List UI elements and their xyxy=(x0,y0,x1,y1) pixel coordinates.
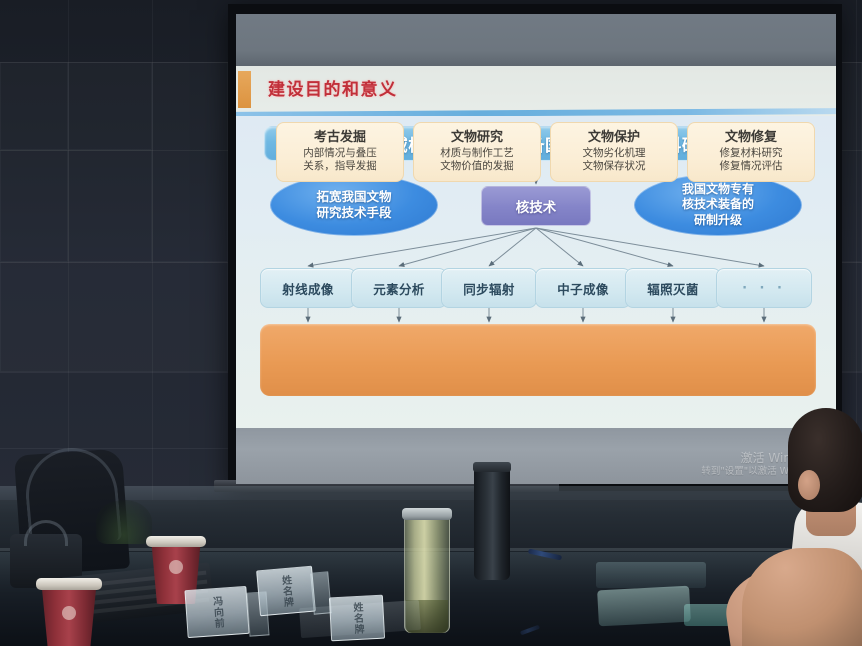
conference-room-photo: 建设目的和意义 xyxy=(0,0,862,646)
technique-box-element-analysis: 元素分析 xyxy=(351,268,447,308)
projected-slide: 建设目的和意义 xyxy=(236,66,836,428)
technique-label: 中子成像 xyxy=(557,279,609,298)
nameplate-1: 冯向前 xyxy=(184,586,249,638)
nameplate-2: 姓名牌 xyxy=(256,566,316,617)
outcome-card-research: 文物研究 材质与制作工艺 文物价值的发掘 xyxy=(413,122,541,182)
paper-coffee-cup-right-lid xyxy=(146,536,206,547)
screen-letterbox-bottom xyxy=(236,426,836,484)
technique-label: 辐照灭菌 xyxy=(647,279,699,298)
outcome-sub-1: 文物劣化机理 xyxy=(583,147,646,160)
pillar-left: 拓宽我国文物 研究技术手段 xyxy=(270,174,438,236)
nameplate-3-text: 姓名牌 xyxy=(349,601,366,635)
pillar-right-line3: 研制升级 xyxy=(694,213,742,228)
pillar-center-core-technology: 核技术 xyxy=(481,186,591,226)
pillar-left-line2: 研究技术手段 xyxy=(316,205,391,221)
outcome-title: 文物研究 xyxy=(451,131,503,146)
mobile-phone[interactable] xyxy=(597,586,691,627)
paper-coffee-cup-left-logo xyxy=(62,606,76,620)
outcome-sub-2: 关系，指导发掘 xyxy=(303,160,377,173)
paper-coffee-cup-right-logo xyxy=(169,560,183,574)
outcome-sub-2: 文物保存状况 xyxy=(583,160,646,173)
outcome-card-restoration: 文物修复 修复材料研究 修复情况评估 xyxy=(687,122,815,182)
outcome-card-archaeology: 考古发掘 内部情况与叠压 关系，指导发掘 xyxy=(276,122,404,182)
pillar-right-line2: 核技术装备的 xyxy=(682,197,754,212)
technique-row: 射线成像 元素分析 同步辐射 中子成像 辐照灭菌 · · · xyxy=(236,268,836,308)
pillar-right: 我国文物专有 核技术装备的 研制升级 xyxy=(634,174,802,236)
glass-tea-thermos-lid xyxy=(402,508,452,520)
nameplate-2-text: 姓名牌 xyxy=(277,574,295,608)
technique-box-neutron-imaging: 中子成像 xyxy=(535,268,631,308)
pillar-left-line1: 拓宽我国文物 xyxy=(316,189,391,205)
outcome-sub-1: 修复材料研究 xyxy=(720,147,783,160)
outcome-sub-1: 材质与制作工艺 xyxy=(440,147,514,160)
document-tray xyxy=(596,562,706,588)
outcome-card-conservation: 文物保护 文物劣化机理 文物保存状况 xyxy=(550,122,678,182)
nameplate-1-text: 冯向前 xyxy=(208,595,225,629)
outcome-band xyxy=(260,324,816,396)
plant xyxy=(96,500,152,544)
pillar-center-label: 核技术 xyxy=(516,196,557,216)
technique-box-synchrotron: 同步辐射 xyxy=(441,268,537,308)
technique-label: 同步辐射 xyxy=(463,279,515,298)
black-tumbler-cap xyxy=(473,462,511,472)
technique-label: 射线成像 xyxy=(282,279,334,298)
screen-letterbox-top xyxy=(236,14,836,66)
outcome-title: 文物修复 xyxy=(725,131,777,146)
attendee-ear xyxy=(798,470,820,500)
outcome-sub-1: 内部情况与叠压 xyxy=(303,147,377,160)
technique-box-xray-imaging: 射线成像 xyxy=(260,268,356,308)
slide-title-band: 建设目的和意义 xyxy=(236,66,836,110)
outcome-title: 文物保护 xyxy=(588,131,640,146)
slide-body: 文物领域核技术应用与装备国家文物局重点科研基地 拓宽我国文物 研究技术手段 核技… xyxy=(236,116,836,428)
black-tumbler xyxy=(474,468,510,580)
outcome-sub-2: 修复情况评估 xyxy=(720,160,783,173)
projection-screen-surface: 建设目的和意义 xyxy=(236,14,836,484)
technique-label: · · · xyxy=(742,281,786,296)
slide-title: 建设目的和意义 xyxy=(268,75,398,100)
pillar-right-line1: 我国文物专有 xyxy=(682,182,754,197)
technique-box-more-ellipsis: · · · xyxy=(716,268,812,308)
paper-coffee-cup-left-lid xyxy=(36,578,102,590)
technique-label: 元素分析 xyxy=(373,279,425,298)
nameplate-3: 姓名牌 xyxy=(329,595,385,642)
attendee-head xyxy=(788,408,862,512)
diagram: 文物领域核技术应用与装备国家文物局重点科研基地 拓宽我国文物 研究技术手段 核技… xyxy=(236,116,836,428)
title-accent-bar xyxy=(238,71,251,108)
outcome-title: 考古发掘 xyxy=(314,131,366,146)
technique-box-irradiation: 辐照灭菌 xyxy=(625,268,721,308)
outcome-sub-2: 文物价值的发掘 xyxy=(440,160,514,173)
